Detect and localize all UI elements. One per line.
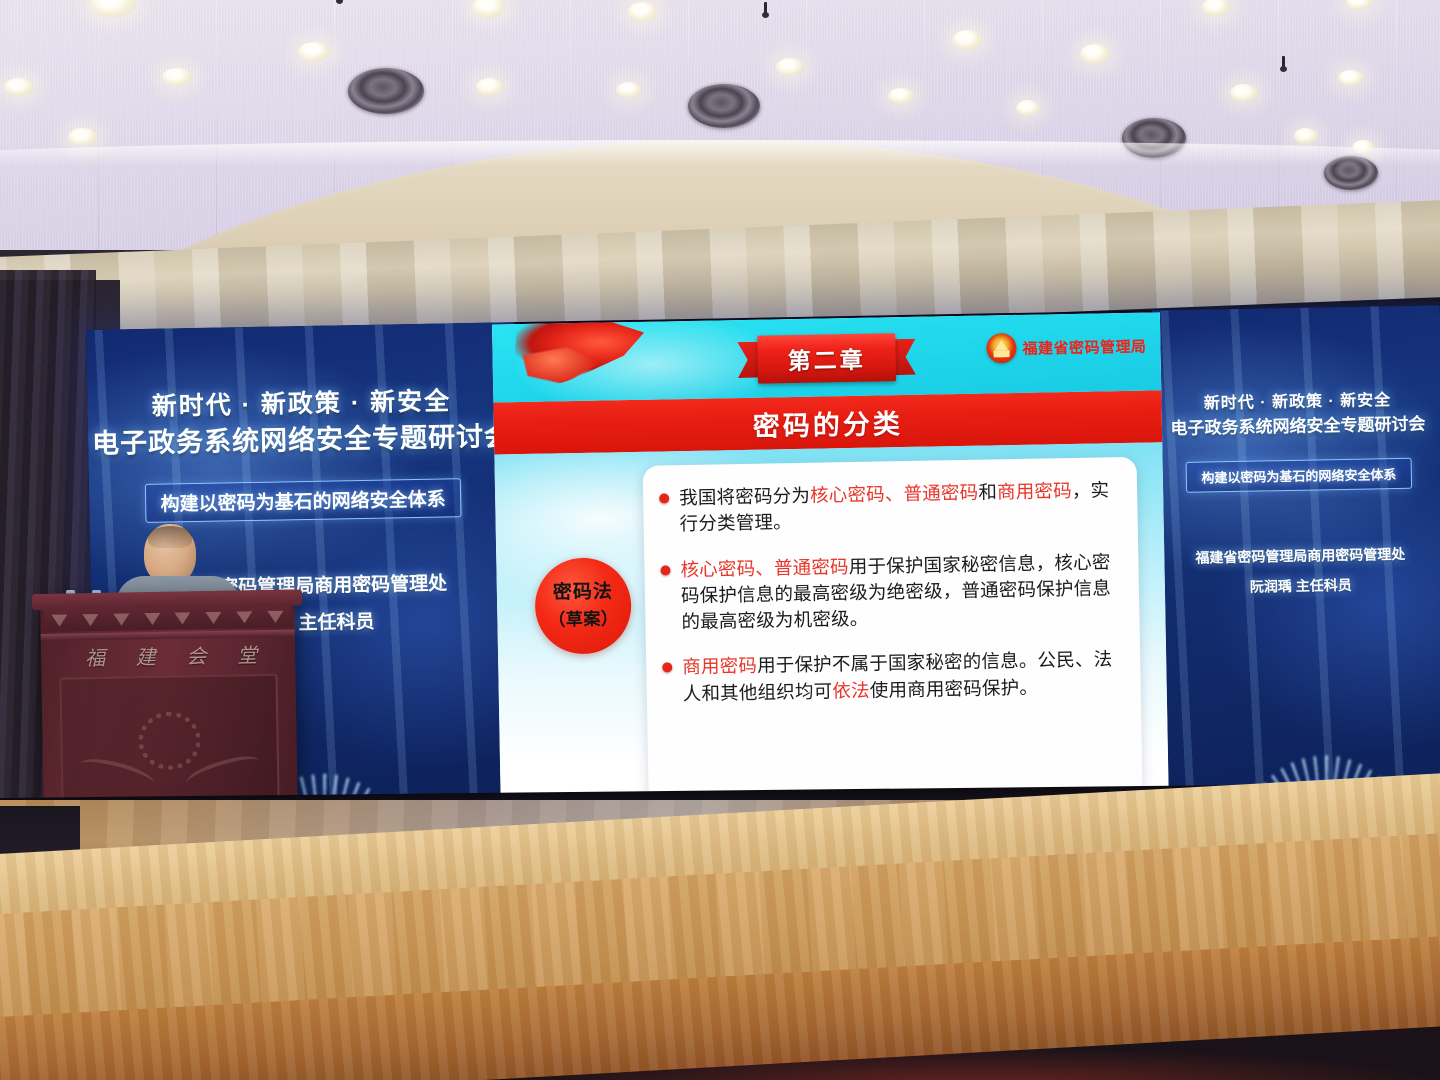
ceiling-seam (98, 0, 99, 290)
red-ribbon-swoosh-icon (514, 316, 645, 394)
slide-content-card: 我国将密码分为核心密码、普通密码和商用密码，实行分类管理。核心密码、普通密码用于… (643, 457, 1143, 804)
podium-frieze (44, 606, 290, 632)
bullet-dot-icon (659, 493, 669, 503)
right-banner-subtitle: 构建以密码为基石的网络安全体系 (1186, 458, 1412, 493)
slide-bullet-row: 商用密码用于保护不属于国家秘密的信息。公民、法人和其他组织均可依法使用商用密码保… (662, 646, 1121, 707)
law-circle-badge: 密码法 （草案） (534, 557, 632, 655)
podium-plaque-character: 福 (85, 641, 106, 670)
slide-bullet-text: 核心密码、普通密码用于保护国家秘密信息，核心密码保护信息的最高密级为绝密级，普通… (680, 549, 1119, 636)
chapter-ribbon-banner: 第二章 (737, 333, 916, 384)
chapter-badge-label: 第二章 (787, 341, 866, 376)
cornice-highlight (0, 140, 1440, 166)
slide-body: 密码法 （草案） 我国将密码分为核心密码、普通密码和商用密码，实行分类管理。核心… (494, 442, 1169, 820)
ceiling-downlight (298, 42, 330, 62)
right-banner-org: 福建省密码管理局商用密码管理处 (1156, 543, 1440, 568)
presentation-slide: 第二章 福建省密码管理局 密码的分类 密码法 （草案） 我国将密码分为核心密码、… (492, 312, 1169, 820)
bullet-text-highlight: 商用密码 (997, 480, 1072, 502)
bullet-text-highlight: 依法 (832, 679, 870, 701)
ceiling-downlight (616, 82, 642, 98)
right-banner-subtitle-wrap: 构建以密码为基石的网络安全体系 (1155, 457, 1440, 493)
slide-bullet-row: 我国将密码分为核心密码、普通密码和商用密码，实行分类管理。 (659, 477, 1118, 538)
ceiling-downlight (628, 2, 658, 22)
bullet-text-plain: 和 (978, 481, 997, 502)
ceiling-air-diffuser (688, 84, 760, 128)
chapter-badge: 第二章 (757, 333, 896, 384)
left-banner-subtitle: 构建以密码为基石的网络安全体系 (145, 478, 461, 523)
ceiling-downlight (1230, 84, 1258, 102)
ceiling-sprinkler (338, 0, 341, 2)
ceiling-downlight (4, 78, 34, 96)
right-banner-speaker: 阮润瑀 主任科员 (1157, 573, 1440, 598)
right-banner-line2: 电子政务系统网络安全专题研讨会 (1154, 409, 1440, 439)
podium-carved-ring (138, 711, 201, 770)
bullet-text-plain: 使用商用密码保护。 (870, 676, 1039, 700)
podium-name-plaque: 福建会堂 (81, 640, 261, 669)
ceiling-sprinkler (764, 2, 767, 16)
bullet-text-highlight: 核心密码、普通密码 (810, 482, 979, 506)
ceiling-downlight (1338, 70, 1364, 86)
apron-red-glow (520, 1048, 1440, 1080)
bullet-dot-icon (660, 565, 670, 575)
ceiling-downlight (476, 78, 504, 96)
podium-plaque-character: 会 (186, 640, 207, 669)
law-circle-line1: 密码法 (553, 581, 613, 605)
slide-bullet-row: 核心密码、普通密码用于保护国家秘密信息，核心密码保护信息的最高密级为绝密级，普通… (660, 549, 1119, 636)
ceiling-downlight (952, 30, 982, 50)
ceiling-air-diffuser (348, 68, 424, 114)
slide-organization-mark: 福建省密码管理局 (986, 331, 1147, 364)
ceiling-downlight (888, 88, 914, 104)
left-banner-subtitle-wrap: 构建以密码为基石的网络安全体系 (89, 477, 518, 524)
slide-bullet-text: 我国将密码分为核心密码、普通密码和商用密码，实行分类管理。 (679, 477, 1118, 538)
bullet-dot-icon (662, 663, 672, 673)
ceiling-downlight (1016, 100, 1040, 116)
right-banner-text-block: 新时代 · 新政策 · 新安全 电子政务系统网络安全专题研讨会 构建以密码为基石… (1152, 305, 1440, 810)
left-banner-line2: 电子政务系统网络安全专题研讨会 (88, 414, 517, 461)
conference-hall-photo: 新时代 · 新政策 · 新安全 电子政务系统网络安全专题研讨会 构建以密码为基石… (0, 0, 1440, 1080)
podium-plaque-character: 建 (135, 640, 156, 669)
bullet-text-highlight: 核心密码、普通密码 (680, 556, 849, 580)
slide-header: 第二章 福建省密码管理局 (492, 312, 1161, 402)
ceiling-downlight (1080, 44, 1110, 64)
slide-bullet-text: 商用密码用于保护不属于国家秘密的信息。公民、法人和其他组织均可依法使用商用密码保… (682, 646, 1121, 707)
law-circle-line2: （草案） (548, 604, 618, 630)
ceiling-downlight (1294, 128, 1318, 144)
national-emblem-icon (986, 333, 1017, 364)
speaker-head (144, 524, 196, 584)
bullet-text-plain: 我国将密码分为 (679, 485, 810, 508)
bullet-text-highlight: 商用密码 (682, 655, 757, 677)
ceiling-downlight (162, 68, 192, 86)
ceiling-sprinkler (1282, 56, 1285, 70)
ceiling-downlight (776, 58, 804, 76)
podium-plaque-character: 堂 (237, 639, 258, 668)
slide-title: 密码的分类 (752, 402, 903, 444)
slide-organization-label: 福建省密码管理局 (1022, 335, 1146, 358)
ceiling-downlight (68, 128, 98, 146)
